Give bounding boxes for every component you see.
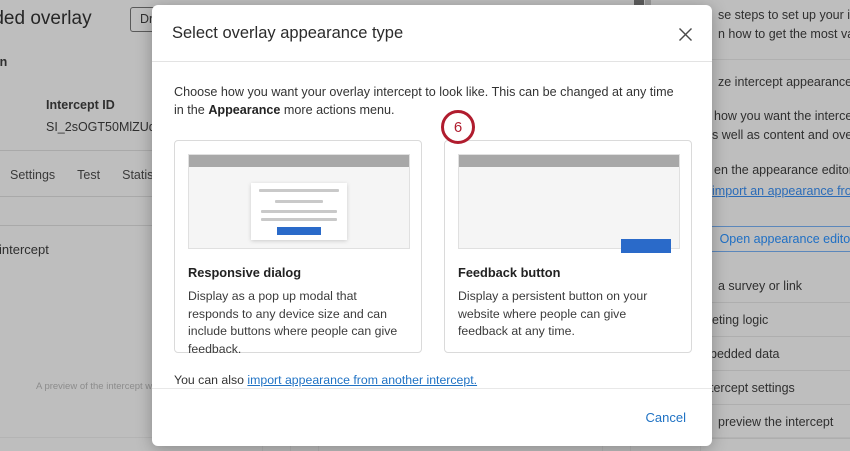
dialog-text-bar — [261, 210, 337, 213]
annotation-step-badge: 6 — [441, 110, 475, 144]
modal-header: Select overlay appearance type — [152, 5, 712, 62]
dialog-header-bar — [259, 189, 339, 192]
appearance-option-cards: Responsive dialog Display as a pop up mo… — [174, 140, 690, 353]
dialog-mockup — [251, 183, 347, 240]
new-intercept-label: w intercept — [0, 242, 49, 257]
tab-settings[interactable]: Settings — [10, 168, 55, 182]
list-item[interactable]: eting logic — [700, 303, 850, 337]
section-label: on — [0, 55, 7, 69]
cancel-button[interactable]: Cancel — [642, 404, 690, 431]
open-appearance-editor-button[interactable]: Open appearance editor — [712, 226, 850, 252]
help-steps-line-2: n how to get the most value — [718, 27, 850, 41]
help-section-heading: ze intercept appearance — [718, 75, 850, 89]
dialog-text-bar — [261, 218, 337, 221]
divider — [0, 225, 160, 226]
option-description: Display a persistent button on your webs… — [458, 288, 678, 341]
intercept-id-value: SI_2sOGT50MlZUqfl — [46, 120, 162, 134]
help-steps-line-1: se steps to set up your interc — [718, 8, 850, 22]
help-body-line-3: en the appearance editor to — [714, 163, 850, 177]
import-appearance-link-background[interactable]: import an appearance from — [712, 184, 850, 198]
import-prefix-text: You can also — [174, 373, 247, 387]
responsive-dialog-thumbnail-icon — [188, 154, 410, 249]
browser-titlebar — [189, 155, 409, 167]
intro-suffix: more actions menu. — [280, 103, 394, 117]
list-item[interactable]: tercept settings — [700, 371, 850, 405]
option-title: Feedback button — [458, 265, 678, 280]
modal-body: Choose how you want your overlay interce… — [152, 62, 712, 387]
close-icon[interactable] — [672, 21, 698, 47]
list-item[interactable]: a survey or link — [700, 269, 850, 303]
list-item[interactable]: bedded data — [700, 337, 850, 371]
option-card-responsive-dialog[interactable]: Responsive dialog Display as a pop up mo… — [174, 140, 422, 353]
list-item[interactable]: preview the intercept — [700, 405, 850, 439]
option-title: Responsive dialog — [188, 265, 408, 280]
help-body-line-2: s well as content and overall — [712, 128, 850, 142]
feedback-button-mockup — [621, 239, 671, 253]
overlay-appearance-type-modal: Select overlay appearance type Choose ho… — [152, 5, 712, 446]
browser-titlebar — [459, 155, 679, 167]
option-description: Display as a pop up modal that responds … — [188, 288, 408, 359]
modal-intro-text: Choose how you want your overlay interce… — [174, 84, 686, 120]
divider — [0, 150, 160, 151]
modal-title: Select overlay appearance type — [172, 24, 403, 43]
import-appearance-line: You can also import appearance from anot… — [174, 373, 690, 387]
dialog-text-bar — [275, 200, 323, 203]
background-tab-bar: Settings Test Statistics — [10, 168, 172, 182]
import-appearance-link[interactable]: import appearance from another intercept… — [247, 373, 477, 387]
modal-footer: Cancel — [152, 388, 712, 446]
intro-bold-appearance: Appearance — [208, 103, 280, 117]
tab-test[interactable]: Test — [77, 168, 100, 182]
divider — [700, 59, 850, 60]
option-card-feedback-button[interactable]: Feedback button Display a persistent but… — [444, 140, 692, 353]
page-title: guided overlay — [0, 8, 92, 30]
divider — [0, 196, 160, 197]
dialog-cta-button-mockup — [277, 227, 321, 235]
intercept-id-label: Intercept ID — [46, 98, 115, 112]
help-body-line-1: how you want the intercept — [714, 109, 850, 123]
feedback-button-thumbnail-icon — [458, 154, 680, 249]
